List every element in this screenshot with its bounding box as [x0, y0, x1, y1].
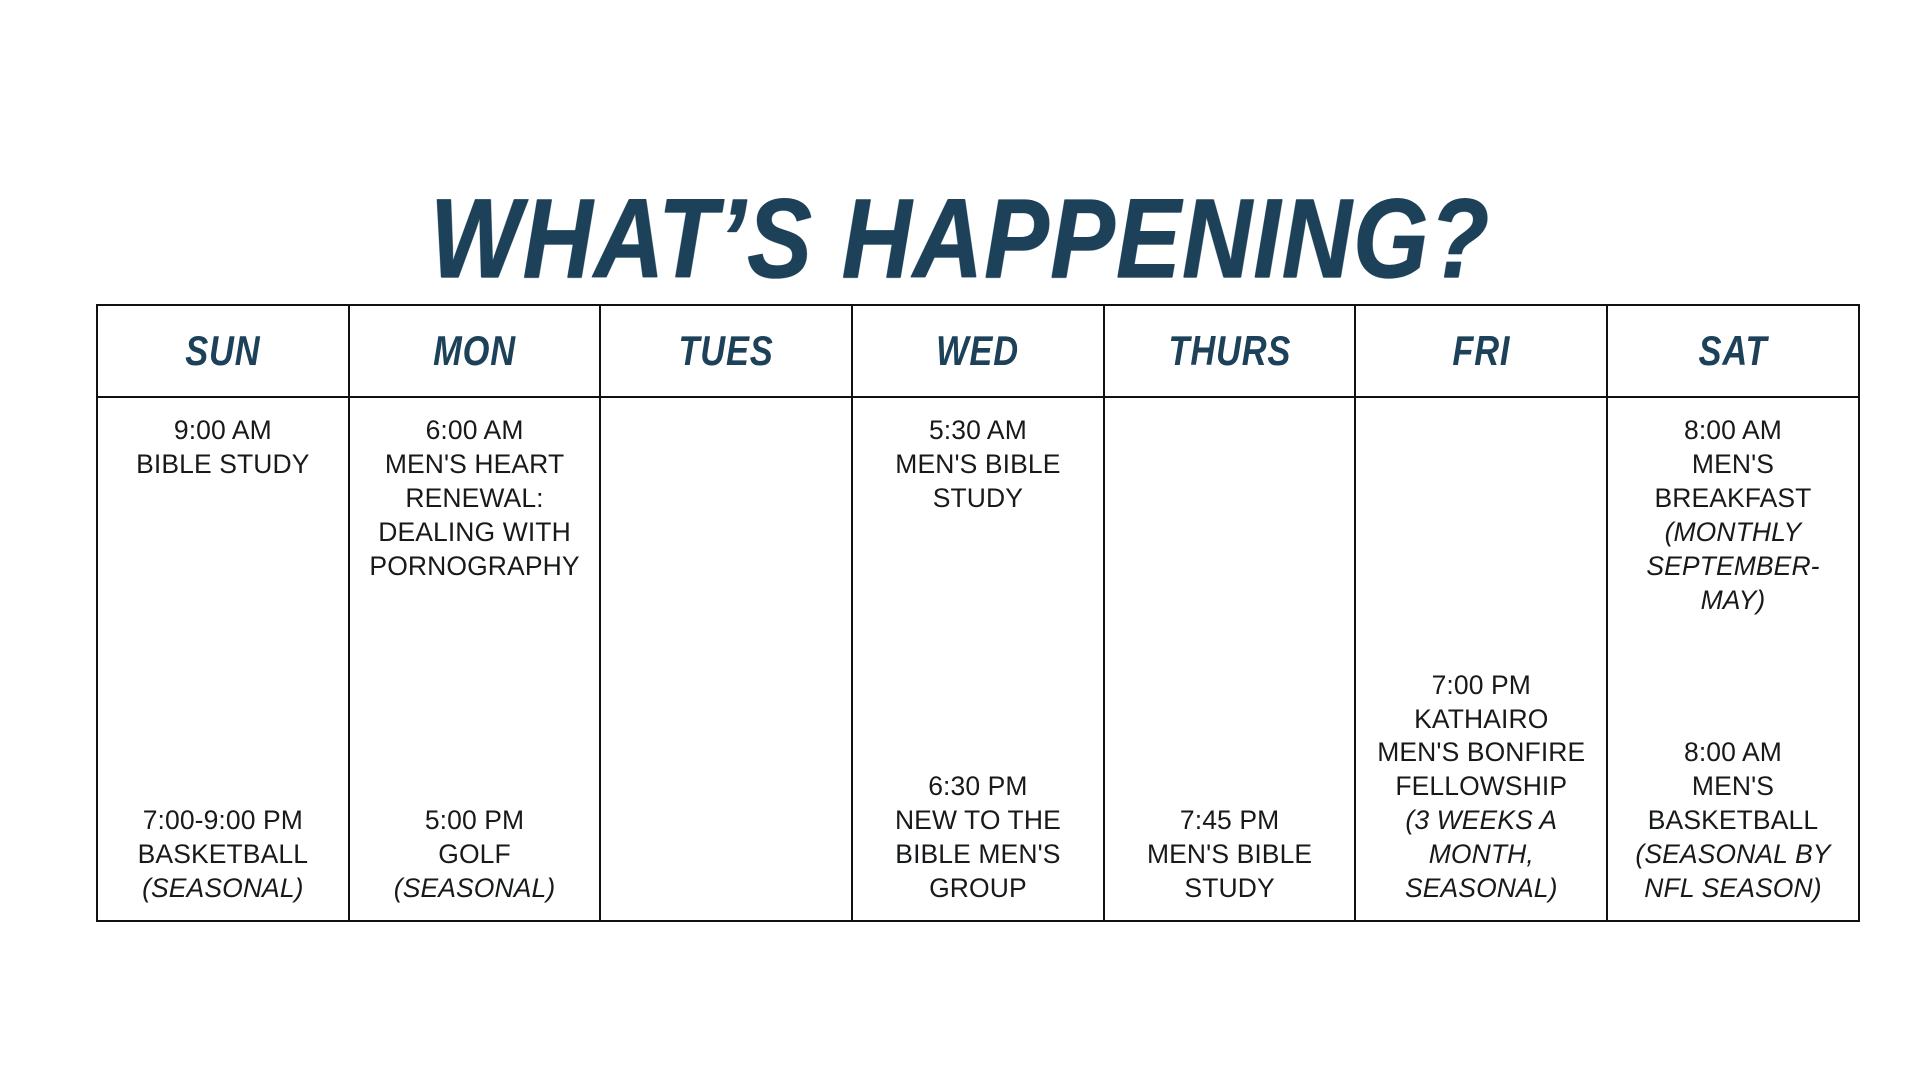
- column-header-fri: FRI: [1355, 305, 1607, 397]
- event-name-line: MEN'S BIBLE: [861, 448, 1095, 482]
- event-name-line: MEN'S BIBLE: [1113, 838, 1347, 872]
- column-header-mon-label: MON: [433, 327, 516, 375]
- event-bottom-wed: 6:30 PMNEW TO THEBIBLE MEN'SGROUP: [861, 770, 1095, 906]
- empty-slot-top-fri: [1364, 414, 1598, 541]
- slot-gap-tues: [609, 578, 843, 742]
- column-header-sat: SAT: [1607, 305, 1859, 397]
- event-time: 5:30 AM: [861, 414, 1095, 448]
- cell-content-tues: [601, 398, 851, 920]
- event-name-line: BIBLE MEN'S: [861, 838, 1095, 872]
- schedule-cell-fri: 7:00 PMKATHAIROMEN'S BONFIREFELLOWSHIP(3…: [1355, 397, 1607, 921]
- column-header-thurs: THURS: [1104, 305, 1356, 397]
- event-time: 8:00 AM: [1616, 736, 1850, 770]
- event-name-line: MEN'S: [1616, 448, 1850, 482]
- column-header-tues: TUES: [600, 305, 852, 397]
- slot-gap-sat: [1616, 617, 1850, 736]
- event-name-line: RENEWAL:: [358, 482, 592, 516]
- event-name-line: DEALING WITH: [358, 516, 592, 550]
- event-top-wed: 5:30 AMMEN'S BIBLESTUDY: [861, 414, 1095, 516]
- event-name-line: NEW TO THE: [861, 804, 1095, 838]
- event-top-sat: 8:00 AMMEN'SBREAKFAST(MONTHLY SEPTEMBER-…: [1616, 414, 1850, 617]
- event-name-line: BIBLE STUDY: [106, 448, 340, 482]
- event-name-line: BASKETBALL: [106, 838, 340, 872]
- event-note: (SEASONAL BY NFL SEASON): [1616, 838, 1850, 906]
- column-header-fri-label: FRI: [1452, 327, 1510, 375]
- column-header-thurs-label: THURS: [1168, 327, 1291, 375]
- slot-gap-fri: [1364, 541, 1598, 668]
- schedule-page: WHAT’S HAPPENING? SUN MON TUES WED: [0, 0, 1920, 1080]
- event-name-line: GOLF: [358, 838, 592, 872]
- column-header-sat-label: SAT: [1699, 327, 1768, 375]
- event-time: 6:30 PM: [861, 770, 1095, 804]
- slot-gap-mon: [358, 584, 592, 805]
- event-note: (3 WEEKS A MONTH, SEASONAL): [1364, 804, 1598, 906]
- event-name-line: STUDY: [861, 482, 1095, 516]
- column-header-wed-label: WED: [936, 327, 1019, 375]
- empty-slot-top-thurs: [1113, 414, 1347, 609]
- event-bottom-mon: 5:00 PMGOLF(SEASONAL): [358, 804, 592, 906]
- weekly-schedule-table: SUN MON TUES WED THURS FRI SAT: [96, 304, 1860, 922]
- event-time: 7:45 PM: [1113, 804, 1347, 838]
- event-time: 5:00 PM: [358, 804, 592, 838]
- cell-content-fri: 7:00 PMKATHAIROMEN'S BONFIREFELLOWSHIP(3…: [1356, 398, 1606, 920]
- event-note: (SEASONAL): [106, 872, 340, 906]
- event-top-mon: 6:00 AMMEN'S HEARTRENEWAL:DEALING WITHPO…: [358, 414, 592, 584]
- schedule-table-body: 9:00 AMBIBLE STUDY7:00-9:00 PMBASKETBALL…: [97, 397, 1859, 921]
- empty-slot-bottom-tues: [609, 742, 843, 906]
- event-top-sun: 9:00 AMBIBLE STUDY: [106, 414, 340, 482]
- column-header-mon: MON: [349, 305, 601, 397]
- event-name-line: BASKETBALL: [1616, 804, 1850, 838]
- page-title: WHAT’S HAPPENING?: [430, 183, 1490, 295]
- cell-content-wed: 5:30 AMMEN'S BIBLESTUDY6:30 PMNEW TO THE…: [853, 398, 1103, 920]
- event-bottom-sat: 8:00 AMMEN'SBASKETBALL(SEASONAL BY NFL S…: [1616, 736, 1850, 906]
- slot-gap-thurs: [1113, 609, 1347, 804]
- schedule-table-header: SUN MON TUES WED THURS FRI SAT: [97, 305, 1859, 397]
- event-note: (MONTHLY SEPTEMBER-MAY): [1616, 516, 1850, 618]
- event-name-line: PORNOGRAPHY: [358, 550, 592, 584]
- event-time: 6:00 AM: [358, 414, 592, 448]
- event-name-line: STUDY: [1113, 872, 1347, 906]
- cell-content-mon: 6:00 AMMEN'S HEARTRENEWAL:DEALING WITHPO…: [350, 398, 600, 920]
- event-time: 9:00 AM: [106, 414, 340, 448]
- event-time: 7:00-9:00 PM: [106, 804, 340, 838]
- cell-content-sat: 8:00 AMMEN'SBREAKFAST(MONTHLY SEPTEMBER-…: [1608, 398, 1858, 920]
- event-time: 8:00 AM: [1616, 414, 1850, 448]
- column-header-tues-label: TUES: [679, 327, 774, 375]
- schedule-cell-tues: [600, 397, 852, 921]
- table-row: 9:00 AMBIBLE STUDY7:00-9:00 PMBASKETBALL…: [97, 397, 1859, 921]
- slot-gap-sun: [106, 482, 340, 804]
- schedule-cell-mon: 6:00 AMMEN'S HEARTRENEWAL:DEALING WITHPO…: [349, 397, 601, 921]
- event-name-line: MEN'S BONFIRE: [1364, 736, 1598, 770]
- slot-gap-wed: [861, 516, 1095, 771]
- table-header-row: SUN MON TUES WED THURS FRI SAT: [97, 305, 1859, 397]
- column-header-sun: SUN: [97, 305, 349, 397]
- event-bottom-fri: 7:00 PMKATHAIROMEN'S BONFIREFELLOWSHIP(3…: [1364, 669, 1598, 906]
- column-header-wed: WED: [852, 305, 1104, 397]
- cell-content-thurs: 7:45 PMMEN'S BIBLESTUDY: [1105, 398, 1355, 920]
- event-bottom-thurs: 7:45 PMMEN'S BIBLESTUDY: [1113, 804, 1347, 906]
- event-name-line: BREAKFAST: [1616, 482, 1850, 516]
- empty-slot-top-tues: [609, 414, 843, 578]
- event-bottom-sun: 7:00-9:00 PMBASKETBALL(SEASONAL): [106, 804, 340, 906]
- schedule-cell-thurs: 7:45 PMMEN'S BIBLESTUDY: [1104, 397, 1356, 921]
- event-name-line: FELLOWSHIP: [1364, 770, 1598, 804]
- event-note: (SEASONAL): [358, 872, 592, 906]
- column-header-sun-label: SUN: [185, 327, 260, 375]
- event-name-line: MEN'S: [1616, 770, 1850, 804]
- event-name-line: KATHAIRO: [1364, 703, 1598, 737]
- schedule-cell-sat: 8:00 AMMEN'SBREAKFAST(MONTHLY SEPTEMBER-…: [1607, 397, 1859, 921]
- event-name-line: GROUP: [861, 872, 1095, 906]
- schedule-cell-sun: 9:00 AMBIBLE STUDY7:00-9:00 PMBASKETBALL…: [97, 397, 349, 921]
- event-name-line: MEN'S HEART: [358, 448, 592, 482]
- schedule-cell-wed: 5:30 AMMEN'S BIBLESTUDY6:30 PMNEW TO THE…: [852, 397, 1104, 921]
- cell-content-sun: 9:00 AMBIBLE STUDY7:00-9:00 PMBASKETBALL…: [98, 398, 348, 920]
- event-time: 7:00 PM: [1364, 669, 1598, 703]
